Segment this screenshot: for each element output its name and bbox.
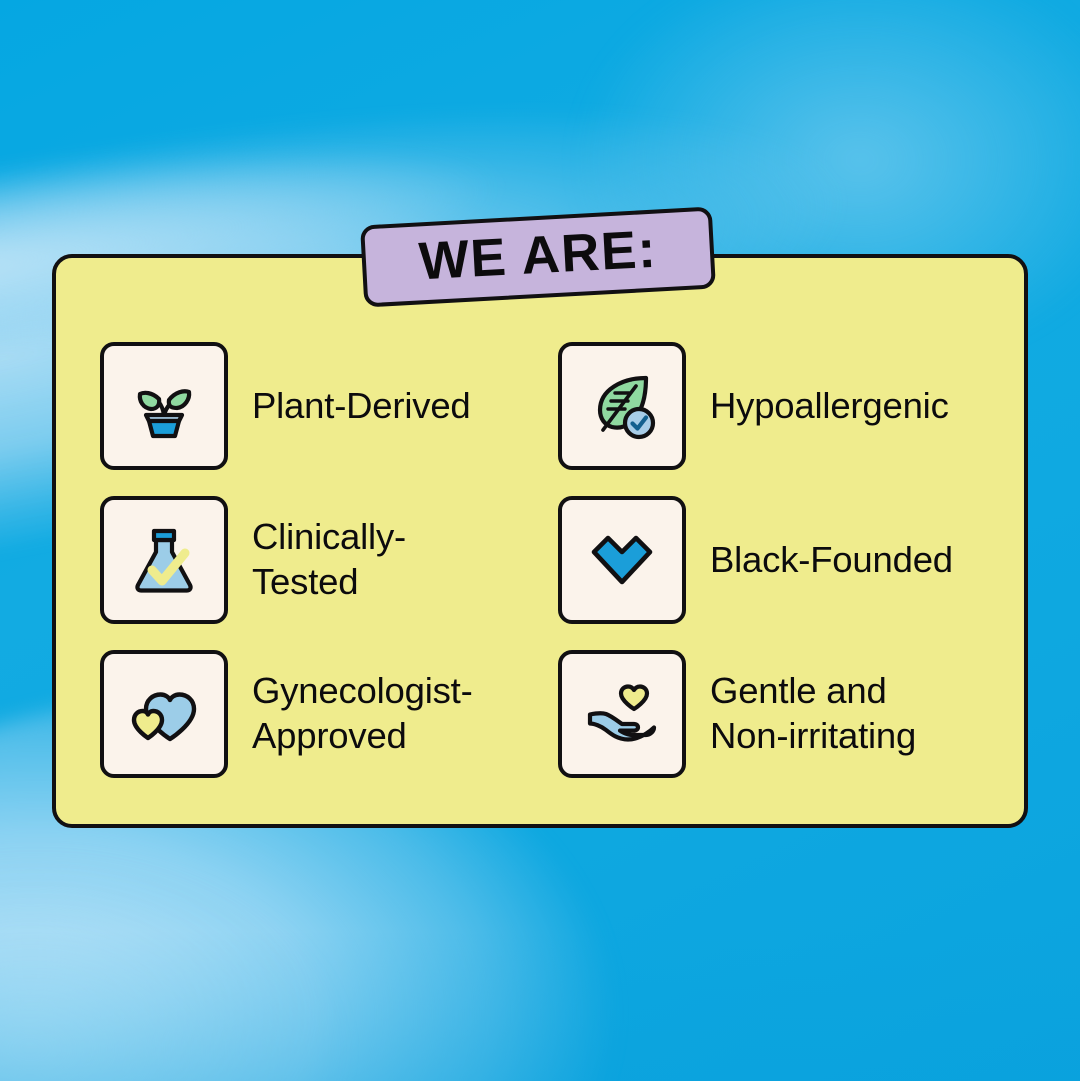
- potted-plant-icon-tile: [100, 342, 228, 470]
- feature-gentle-non-irritating: Gentle and Non-irritating: [558, 650, 988, 778]
- feature-row: Gynecologist- Approved Gentle and Non-ir…: [100, 650, 988, 778]
- feature-label: Black-Founded: [710, 538, 953, 583]
- feature-label: Plant-Derived: [252, 384, 471, 429]
- flask-check-icon: [126, 522, 202, 598]
- leaf-check-icon-tile: [558, 342, 686, 470]
- leaf-check-icon: [584, 368, 660, 444]
- feature-label: Clinically- Tested: [252, 515, 406, 604]
- feature-plant-derived: Plant-Derived: [100, 342, 558, 470]
- feature-row: Plant-Derived: [100, 342, 988, 470]
- flask-check-icon-tile: [100, 496, 228, 624]
- two-hearts-icon-tile: [100, 650, 228, 778]
- feature-row: Clinically- Tested Black-Founded: [100, 496, 988, 624]
- angular-heart-icon: [584, 522, 660, 598]
- feature-clinically-tested: Clinically- Tested: [100, 496, 558, 624]
- feature-label: Gynecologist- Approved: [252, 669, 473, 758]
- background-edge-bottom: [0, 931, 1080, 1081]
- potted-plant-icon: [126, 368, 202, 444]
- feature-gynecologist-approved: Gynecologist- Approved: [100, 650, 558, 778]
- feature-grid: Plant-Derived: [100, 342, 988, 778]
- hand-heart-icon: [584, 676, 660, 752]
- feature-label: Gentle and Non-irritating: [710, 669, 916, 758]
- hand-heart-icon-tile: [558, 650, 686, 778]
- we-are-title-text: WE ARE:: [418, 223, 659, 292]
- two-hearts-icon: [126, 676, 202, 752]
- feature-black-founded: Black-Founded: [558, 496, 988, 624]
- feature-hypoallergenic: Hypoallergenic: [558, 342, 988, 470]
- we-are-card: Plant-Derived: [52, 254, 1028, 828]
- feature-label: Hypoallergenic: [710, 384, 949, 429]
- angular-heart-icon-tile: [558, 496, 686, 624]
